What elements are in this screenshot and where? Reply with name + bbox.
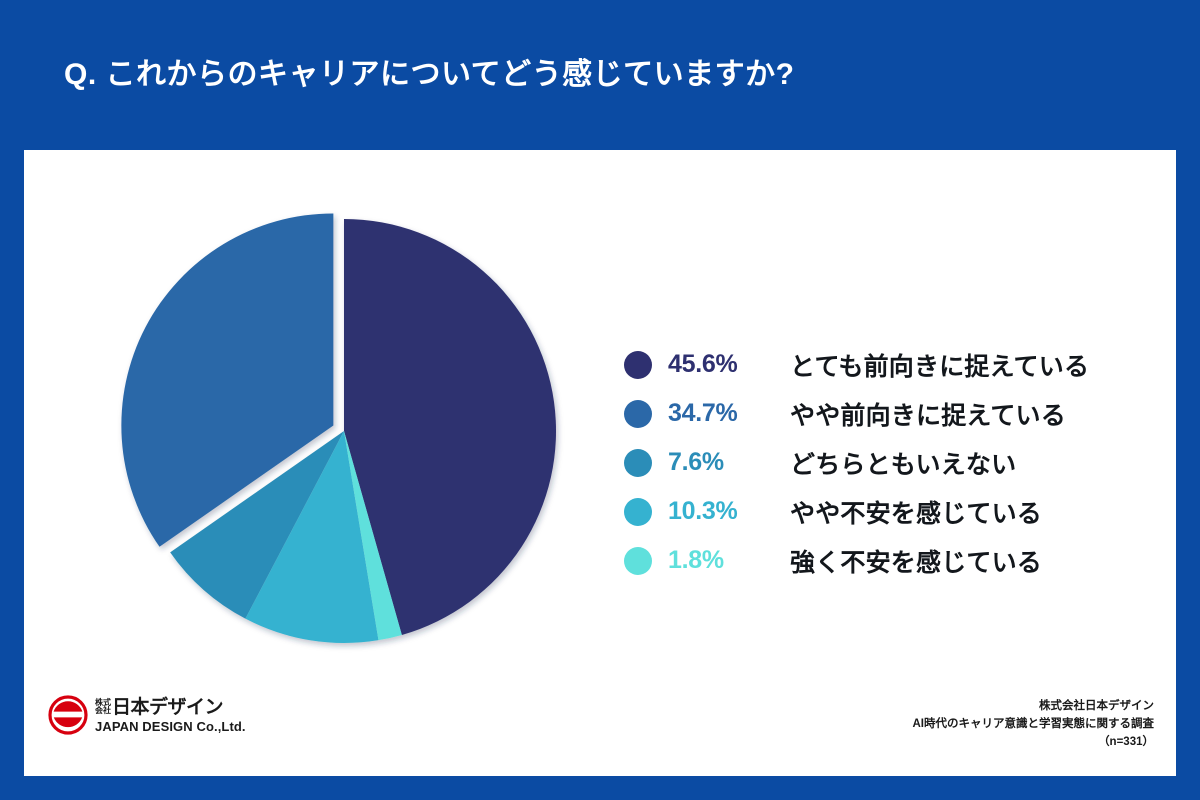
credit-survey-name: AI時代のキャリア意識と学習実態に関する調査 — [913, 716, 1155, 734]
credit-company: 株式会社日本デザイン — [913, 698, 1155, 716]
credit-sample-size: （n=331） — [913, 734, 1155, 752]
legend-swatch-icon-4 — [624, 498, 652, 526]
logo-japanese-name: 株式 会社 日本デザイン — [95, 698, 246, 717]
japan-design-mark-icon — [48, 695, 88, 735]
legend-item-neutral[interactable]: 7.6% どちらともいえない — [624, 438, 1144, 487]
legend-label-1: とても前向きに捉えている — [790, 347, 1089, 383]
company-logo: 株式 会社 日本デザイン JAPAN DESIGN Co.,Ltd. — [48, 695, 246, 735]
logo-text: 株式 会社 日本デザイン JAPAN DESIGN Co.,Ltd. — [95, 698, 246, 733]
legend-swatch-icon-5 — [624, 547, 652, 575]
logo-prefix: 株式 会社 — [95, 699, 111, 715]
legend-label-5: 強く不安を感じている — [790, 543, 1042, 579]
legend-percent-1: 45.6% — [668, 350, 790, 379]
legend-item-somewhat-positive[interactable]: 34.7% やや前向きに捉えている — [624, 389, 1144, 438]
legend-percent-4: 10.3% — [668, 497, 790, 526]
pie-chart-svg — [94, 188, 594, 668]
logo-name-en: JAPAN DESIGN Co.,Ltd. — [95, 720, 246, 733]
legend-percent-5: 1.8% — [668, 546, 790, 575]
logo-prefix-line2: 会社 — [95, 707, 111, 715]
legend-swatch-icon-3 — [624, 449, 652, 477]
pie-chart — [94, 188, 594, 668]
legend-swatch-icon-1 — [624, 351, 652, 379]
content-card: 45.6% とても前向きに捉えている 34.7% やや前向きに捉えている 7.6… — [24, 150, 1176, 776]
legend-item-very-positive[interactable]: 45.6% とても前向きに捉えている — [624, 340, 1144, 389]
slide-root: Q. これからのキャリアについてどう感じていますか? 45.6% とても前向きに… — [0, 0, 1200, 800]
legend-swatch-icon-2 — [624, 400, 652, 428]
legend-label-2: やや前向きに捉えている — [790, 396, 1066, 432]
legend-label-4: やや不安を感じている — [790, 494, 1042, 530]
source-credit: 株式会社日本デザイン AI時代のキャリア意識と学習実態に関する調査 （n=331… — [913, 698, 1155, 751]
legend-item-somewhat-anxious[interactable]: 10.3% やや不安を感じている — [624, 487, 1144, 536]
legend-label-3: どちらともいえない — [790, 445, 1016, 481]
legend-percent-3: 7.6% — [668, 448, 790, 477]
header-band: Q. これからのキャリアについてどう感じていますか? — [0, 0, 1200, 150]
legend-item-strongly-anxious[interactable]: 1.8% 強く不安を感じている — [624, 536, 1144, 585]
legend-percent-2: 34.7% — [668, 399, 790, 428]
logo-name-jp: 日本デザイン — [112, 698, 223, 717]
page-title: Q. これからのキャリアについてどう感じていますか? — [64, 57, 794, 93]
legend: 45.6% とても前向きに捉えている 34.7% やや前向きに捉えている 7.6… — [624, 340, 1144, 585]
